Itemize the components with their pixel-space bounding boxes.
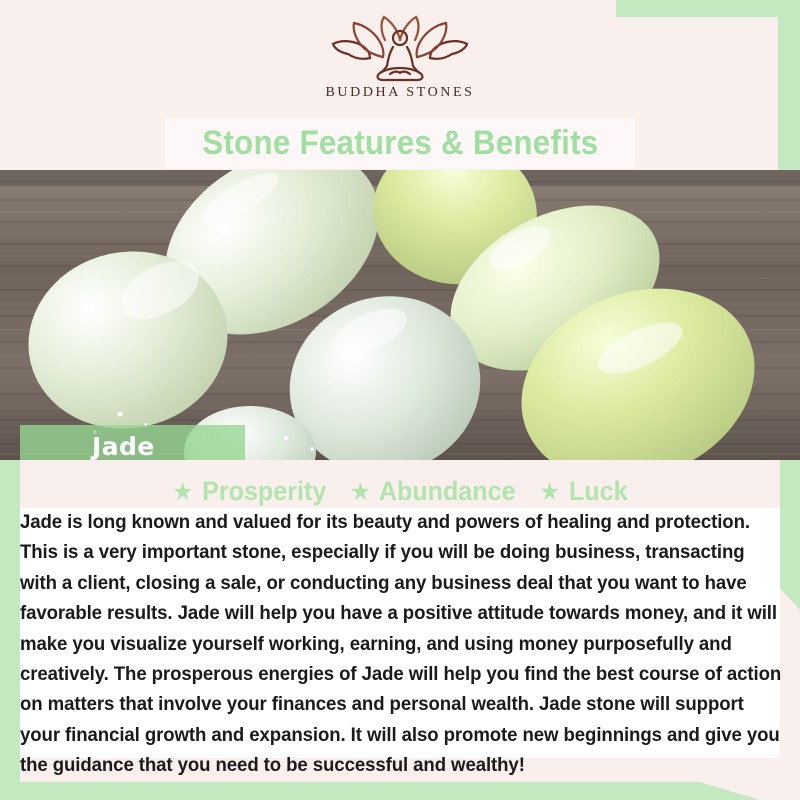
benefits-row: ★ Prosperity ★ Abundance ★ Luck xyxy=(47,476,754,507)
brand-name: BUDDHA STONES xyxy=(325,85,474,101)
description-line: creatively. The prosperous energies of J… xyxy=(20,659,752,689)
stone-photo xyxy=(0,170,800,460)
star-icon: ★ xyxy=(539,478,560,506)
stone-name-label: Jade xyxy=(92,432,155,461)
description-text: Jade is long known and valued for its be… xyxy=(20,507,752,781)
star-icon: ★ xyxy=(350,478,371,506)
brand-logo: BUDDHA STONES xyxy=(0,14,800,114)
benefit-label: Luck xyxy=(569,476,628,506)
description-line: Jade is long known and valued for its be… xyxy=(20,507,752,537)
description-panel: Jade is long known and valued for its be… xyxy=(20,508,780,758)
stone-info-card: BUDDHA STONES Stone Features & Benefits xyxy=(0,0,800,800)
benefit-item-luck: ★ Luck xyxy=(539,476,627,506)
description-line: This is a very important stone, especial… xyxy=(20,537,752,567)
benefit-label: Abundance xyxy=(379,476,516,506)
description-line: make you visualize yourself working, ear… xyxy=(20,629,752,659)
description-line: on matters that involve your finances an… xyxy=(20,689,752,719)
benefit-item-abundance: ★ Abundance xyxy=(350,476,515,506)
page-title: Stone Features & Benefits xyxy=(202,124,598,163)
benefit-label: Prosperity xyxy=(202,476,326,506)
content-panel: ★ Prosperity ★ Abundance ★ Luck Jade is … xyxy=(20,460,780,782)
description-line: your financial growth and expansion. It … xyxy=(20,720,752,750)
description-line: with a client, closing a sale, or conduc… xyxy=(20,568,752,598)
lotus-meditation-icon xyxy=(330,14,470,82)
benefit-item-prosperity: ★ Prosperity xyxy=(172,476,326,506)
stone-photo-illustration xyxy=(0,170,800,460)
title-bar: Stone Features & Benefits xyxy=(165,118,635,169)
star-icon: ★ xyxy=(172,478,193,506)
description-line: the guidance that you need to be success… xyxy=(20,750,752,780)
description-line: favorable results. Jade will help you ha… xyxy=(20,598,752,628)
